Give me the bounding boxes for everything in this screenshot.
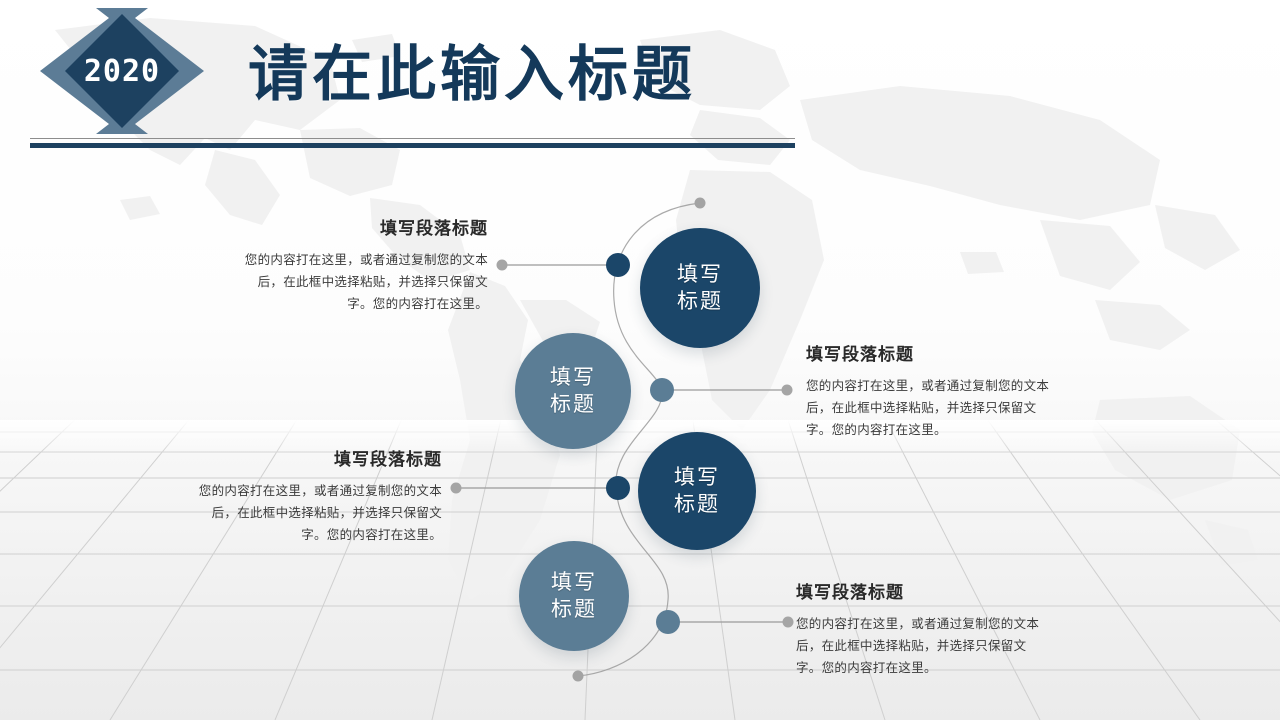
text-block-2: 填写段落标题 您的内容打在这里，或者通过复制您的文本后，在此框中选择粘贴，并选择… — [806, 340, 1056, 441]
node-anchor-2 — [650, 378, 674, 402]
node-anchor-1 — [606, 253, 630, 277]
text-block-3: 填写段落标题 您的内容打在这里，或者通过复制您的文本后，在此框中选择粘贴，并选择… — [192, 445, 442, 546]
leader-dot-4 — [783, 617, 794, 628]
node-anchor-4 — [656, 610, 680, 634]
node-3-line1: 填写 — [674, 464, 720, 491]
node-anchor-3 — [606, 476, 630, 500]
slide-canvas: 2020 请在此输入标题 — [0, 0, 1280, 720]
node-circle-3[interactable]: 填写 标题 — [638, 432, 756, 550]
block-2-title: 填写段落标题 — [806, 340, 1056, 365]
node-4-line2: 标题 — [551, 596, 597, 623]
node-circle-4[interactable]: 填写 标题 — [519, 541, 629, 651]
block-2-body: 您的内容打在这里，或者通过复制您的文本后，在此框中选择粘贴，并选择只保留文字。您… — [806, 375, 1056, 441]
connector-wires — [0, 0, 1280, 720]
leader-dot-2 — [782, 385, 793, 396]
curve-end-dot-top — [695, 198, 706, 209]
leader-dot-3 — [451, 483, 462, 494]
text-block-1: 填写段落标题 您的内容打在这里，或者通过复制您的文本后，在此框中选择粘贴，并选择… — [238, 214, 488, 315]
node-circle-2[interactable]: 填写 标题 — [515, 333, 631, 449]
text-block-4: 填写段落标题 您的内容打在这里，或者通过复制您的文本后，在此框中选择粘贴，并选择… — [796, 578, 1046, 679]
curve-end-dot-bottom — [573, 671, 584, 682]
node-1-line1: 填写 — [677, 261, 723, 288]
block-3-body: 您的内容打在这里，或者通过复制您的文本后，在此框中选择粘贴，并选择只保留文字。您… — [192, 480, 442, 546]
node-circle-1[interactable]: 填写 标题 — [640, 228, 760, 348]
node-2-line2: 标题 — [550, 391, 596, 418]
block-4-body: 您的内容打在这里，或者通过复制您的文本后，在此框中选择粘贴，并选择只保留文字。您… — [796, 613, 1046, 679]
block-1-body: 您的内容打在这里，或者通过复制您的文本后，在此框中选择粘贴，并选择只保留文字。您… — [238, 249, 488, 315]
leader-dot-1 — [497, 260, 508, 271]
s-curve-diagram: 填写 标题 填写 标题 填写 标题 填写 标题 填写段落标题 您的内容打在这里，… — [0, 0, 1280, 720]
node-3-line2: 标题 — [674, 491, 720, 518]
node-2-line1: 填写 — [550, 364, 596, 391]
node-1-line2: 标题 — [677, 288, 723, 315]
block-3-title: 填写段落标题 — [192, 445, 442, 470]
block-4-title: 填写段落标题 — [796, 578, 1046, 603]
node-4-line1: 填写 — [551, 569, 597, 596]
block-1-title: 填写段落标题 — [238, 214, 488, 239]
